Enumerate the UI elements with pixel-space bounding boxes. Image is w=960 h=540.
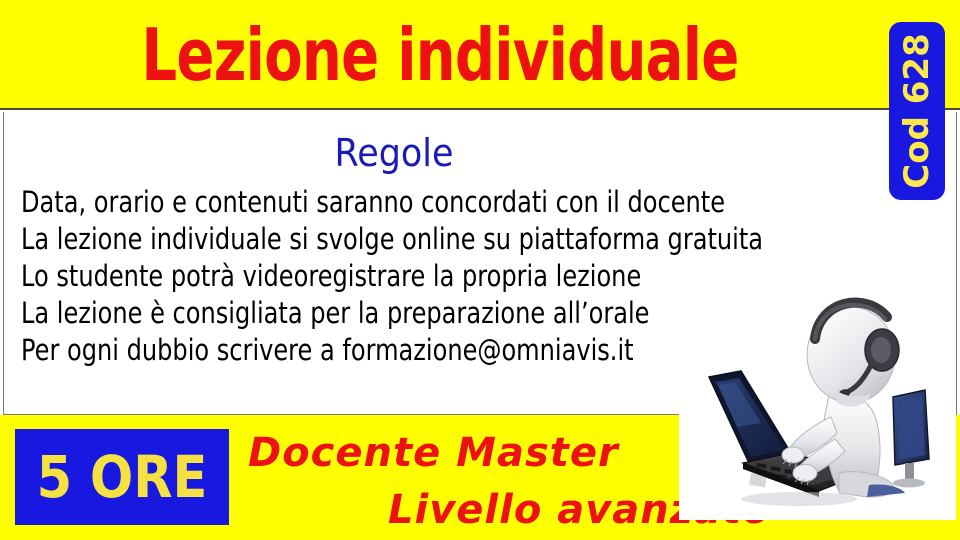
rule-line: La lezione individuale si svolge online … — [21, 221, 652, 258]
illustration-panel — [679, 277, 956, 520]
duration-badge: 5 ORE — [15, 429, 229, 525]
duration-label: 5 ORE — [28, 429, 216, 525]
course-code-label: Cod 628 — [889, 22, 945, 200]
rule-line: Per ogni dubbio scrivere a formazione@om… — [21, 332, 652, 369]
rule-line: Data, orario e contenuti saranno concord… — [21, 184, 652, 221]
rules-list: Data, orario e contenuti saranno concord… — [21, 184, 781, 369]
rules-heading: Regole — [35, 132, 753, 174]
rule-line: Lo studente potrà videoregistrare la pro… — [21, 258, 652, 295]
lezione-individuale-poster: Lezione individuale Cod 628 Regole Data,… — [0, 0, 960, 540]
page-title: Lezione individuale — [97, 6, 783, 104]
teacher-level-label: Docente Master — [248, 431, 619, 475]
rule-line: La lezione è consigliata per la preparaz… — [21, 295, 652, 332]
person-with-headset-at-laptop-icon — [679, 277, 956, 520]
course-code-badge: Cod 628 — [889, 22, 945, 200]
header-banner: Lezione individuale — [0, 0, 960, 110]
